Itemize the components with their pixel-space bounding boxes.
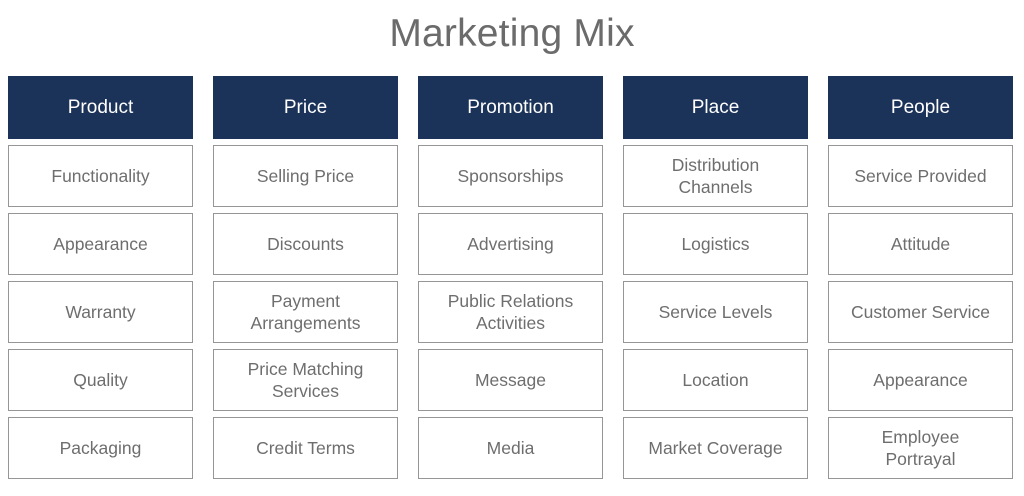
cell-people-5[interactable]: Employee Portrayal <box>828 417 1013 479</box>
marketing-mix-grid: Product Functionality Appearance Warrant… <box>8 76 1014 479</box>
cell-promotion-3[interactable]: Public Relations Activities <box>418 281 603 343</box>
cell-label: Quality <box>14 369 187 391</box>
cell-product-3[interactable]: Warranty <box>8 281 193 343</box>
cell-people-1[interactable]: Service Provided <box>828 145 1013 207</box>
cell-place-3[interactable]: Service Levels <box>623 281 808 343</box>
cell-price-2[interactable]: Discounts <box>213 213 398 275</box>
cell-label: Logistics <box>629 233 802 255</box>
cell-label: Sponsorships <box>424 165 597 187</box>
column-header-place[interactable]: Place <box>623 76 808 139</box>
cell-label: Functionality <box>14 165 187 187</box>
column-promotion: Promotion Sponsorships Advertising Publi… <box>418 76 603 479</box>
column-header-price[interactable]: Price <box>213 76 398 139</box>
cell-place-1[interactable]: Distribution Channels <box>623 145 808 207</box>
cell-product-4[interactable]: Quality <box>8 349 193 411</box>
cell-label: Discounts <box>219 233 392 255</box>
column-header-promotion[interactable]: Promotion <box>418 76 603 139</box>
cell-label: Service Levels <box>629 301 802 323</box>
column-price: Price Selling Price Discounts Payment Ar… <box>213 76 398 479</box>
cell-label: Distribution Channels <box>629 154 802 198</box>
cell-label: Advertising <box>424 233 597 255</box>
cell-label: Credit Terms <box>219 437 392 459</box>
cell-label: Public Relations Activities <box>424 290 597 334</box>
cell-label: Price Matching Services <box>219 358 392 402</box>
marketing-mix-infographic: Marketing Mix Product Functionality Appe… <box>0 0 1024 496</box>
cell-label: Packaging <box>14 437 187 459</box>
column-product: Product Functionality Appearance Warrant… <box>8 76 193 479</box>
column-header-product[interactable]: Product <box>8 76 193 139</box>
cell-product-5[interactable]: Packaging <box>8 417 193 479</box>
cell-promotion-4[interactable]: Message <box>418 349 603 411</box>
cell-label: Appearance <box>834 369 1007 391</box>
cell-label: Warranty <box>14 301 187 323</box>
column-header-people[interactable]: People <box>828 76 1013 139</box>
cell-price-4[interactable]: Price Matching Services <box>213 349 398 411</box>
cell-people-3[interactable]: Customer Service <box>828 281 1013 343</box>
cell-promotion-1[interactable]: Sponsorships <box>418 145 603 207</box>
cell-promotion-5[interactable]: Media <box>418 417 603 479</box>
cell-people-4[interactable]: Appearance <box>828 349 1013 411</box>
cell-label: Customer Service <box>834 301 1007 323</box>
cell-price-3[interactable]: Payment Arrangements <box>213 281 398 343</box>
cell-product-2[interactable]: Appearance <box>8 213 193 275</box>
cell-promotion-2[interactable]: Advertising <box>418 213 603 275</box>
cell-label: Message <box>424 369 597 391</box>
page-title: Marketing Mix <box>0 8 1024 60</box>
cell-label: Service Provided <box>834 165 1007 187</box>
cell-label: Payment Arrangements <box>219 290 392 334</box>
cell-label: Market Coverage <box>629 437 802 459</box>
cell-label: Appearance <box>14 233 187 255</box>
cell-label: Selling Price <box>219 165 392 187</box>
cell-label: Location <box>629 369 802 391</box>
cell-price-5[interactable]: Credit Terms <box>213 417 398 479</box>
cell-price-1[interactable]: Selling Price <box>213 145 398 207</box>
column-place: Place Distribution Channels Logistics Se… <box>623 76 808 479</box>
cell-label: Employee Portrayal <box>834 426 1007 470</box>
cell-product-1[interactable]: Functionality <box>8 145 193 207</box>
cell-place-2[interactable]: Logistics <box>623 213 808 275</box>
column-people: People Service Provided Attitude Custome… <box>828 76 1013 479</box>
cell-people-2[interactable]: Attitude <box>828 213 1013 275</box>
cell-label: Attitude <box>834 233 1007 255</box>
cell-label: Media <box>424 437 597 459</box>
cell-place-5[interactable]: Market Coverage <box>623 417 808 479</box>
cell-place-4[interactable]: Location <box>623 349 808 411</box>
